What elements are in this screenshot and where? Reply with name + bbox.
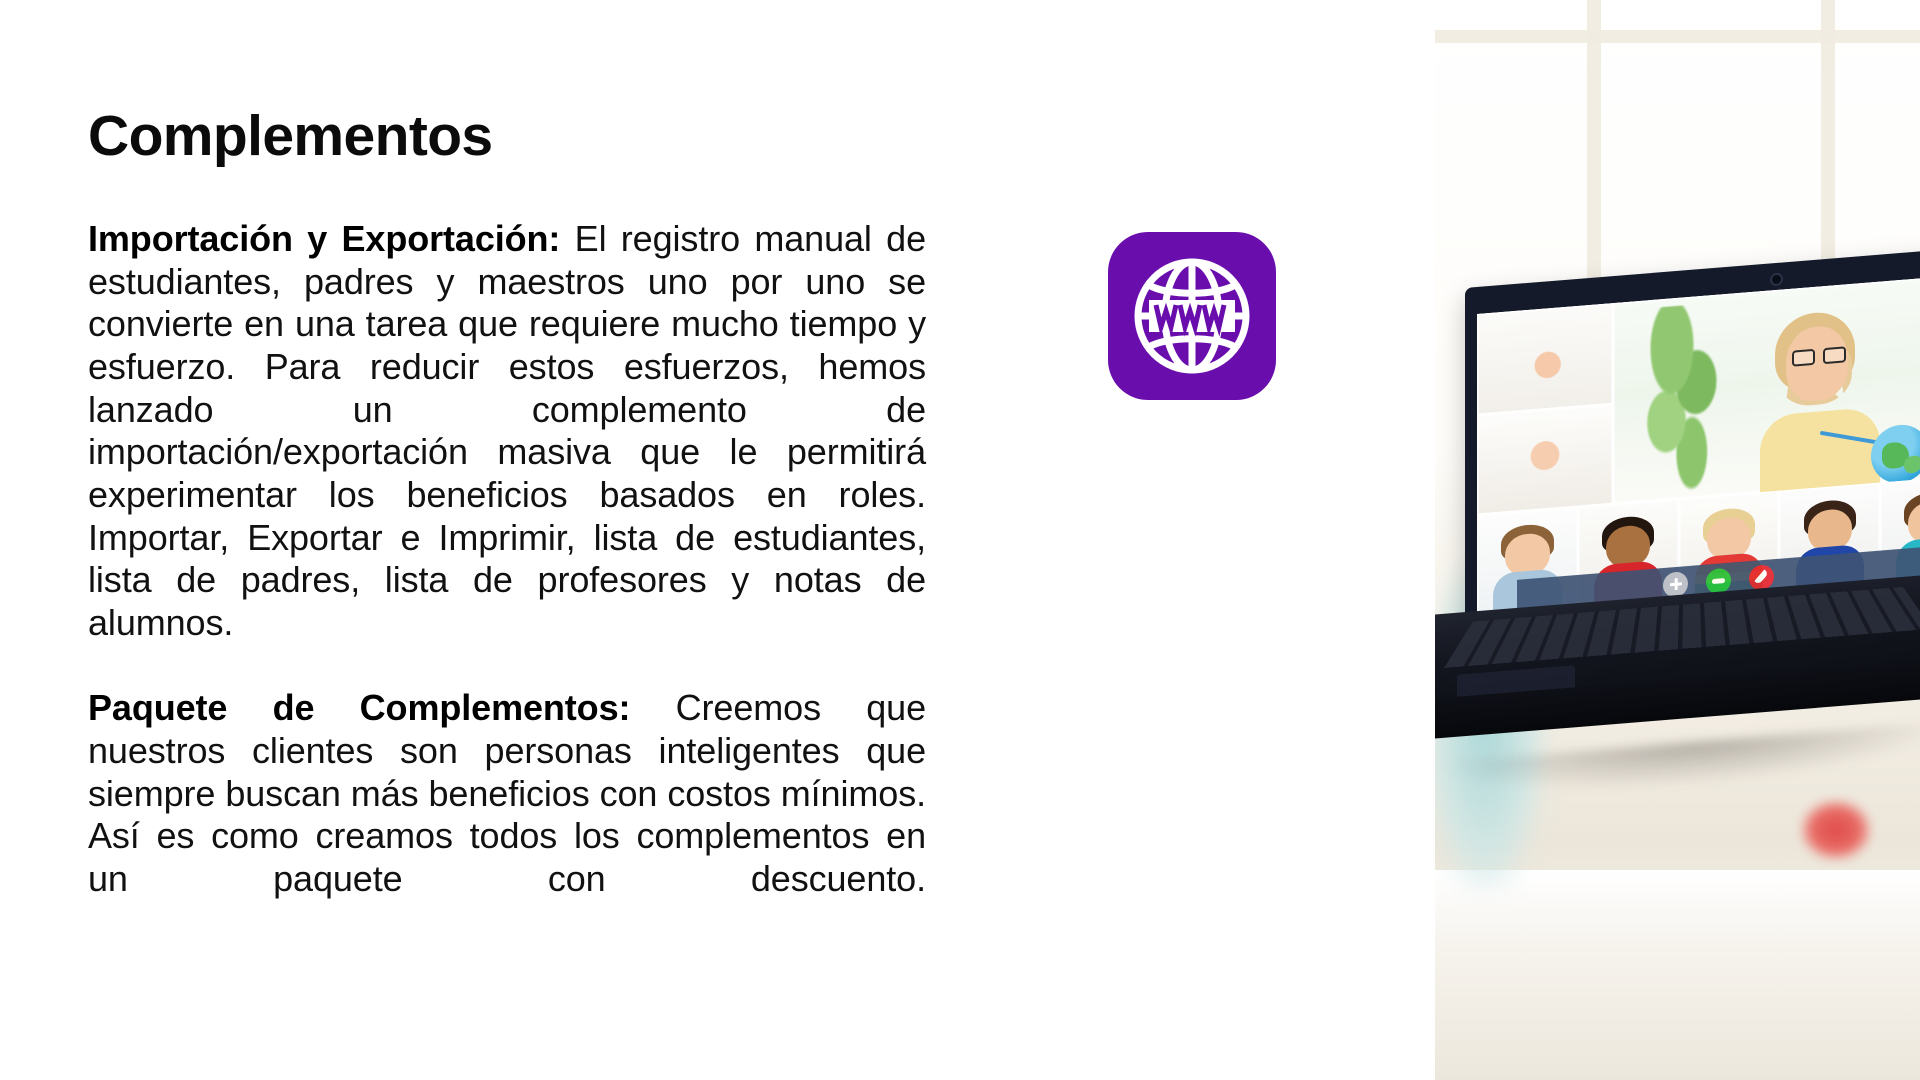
laptop-video-call-photo [1435,0,1920,1080]
paragraph-lead-import-export: Importación y Exportación: [88,218,560,259]
laptop-lid [1465,246,1920,628]
slide-root: Complementos Importación y Exportación: … [0,0,1920,1080]
paragraph-text-import-export: El registro manual de estudiantes, padre… [88,218,926,643]
teacher-torso [1760,406,1880,496]
body-copy: Importación y Exportación: El registro m… [88,218,926,943]
baby-tile [1477,303,1613,415]
www-globe-icon [1108,232,1276,400]
paragraph-addon-bundle: Paquete de Complementos: Creemos que nue… [88,687,926,943]
page-title: Complementos [88,108,493,165]
laptop-screen [1477,273,1920,619]
paragraph-import-export: Importación y Exportación: El registro m… [88,218,926,687]
paragraph-lead-addon-bundle: Paquete de Complementos: [88,687,630,728]
video-grid-top-row [1477,273,1920,515]
video-call-grid [1477,273,1920,619]
teacher-with-globe-tile [1613,273,1920,504]
text-column: Complementos Importación y Exportación: … [88,0,943,1080]
laptop [1435,0,1920,1080]
video-grid-left-column [1477,303,1613,515]
laptop-shadow [1445,722,1920,804]
webcam-icon [1770,272,1783,286]
plant-decor [1628,301,1738,495]
girl-tile [1477,404,1613,516]
